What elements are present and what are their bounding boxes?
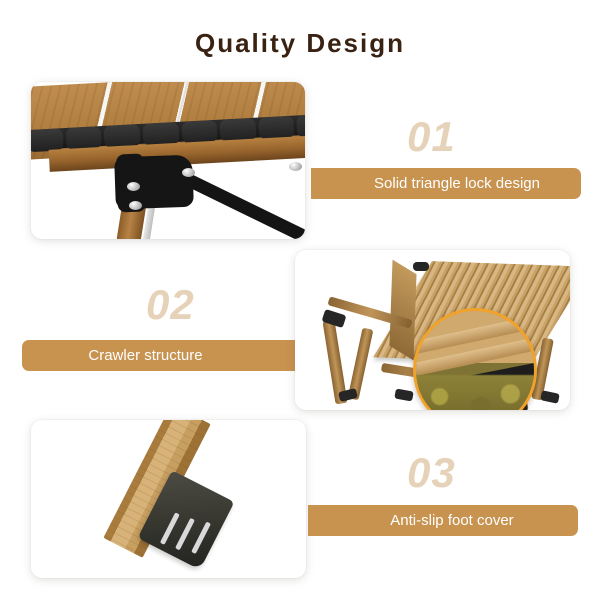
feature-label-bar-02: Crawler structure (22, 340, 295, 371)
feature-label-text-03: Anti-slip foot cover (308, 512, 578, 529)
feature-image-card-03 (31, 420, 306, 578)
foot-cover-mid (394, 389, 413, 402)
rivet-icon (182, 168, 195, 177)
rivet-icon (129, 201, 142, 210)
feature-image-card-02 (295, 250, 570, 410)
crawler-structure-illustration (295, 250, 570, 410)
inset-ground-texture (416, 375, 534, 410)
foot-groove (160, 512, 180, 545)
foot-groove (175, 518, 195, 551)
feature-label-text-02: Crawler structure (22, 347, 295, 364)
infographic-page: Quality Design 01 Solid triangle lock de… (0, 0, 600, 600)
rivet-icon (127, 182, 140, 191)
table-side-edge (389, 260, 416, 361)
foot-groove (191, 521, 211, 554)
feature-number-01: 01 (407, 116, 456, 158)
page-title: Quality Design (0, 28, 600, 59)
feature-number-02: 02 (146, 284, 195, 326)
rivet-icon (289, 162, 302, 171)
anti-slip-foot-illustration (31, 420, 306, 578)
feature-label-text-01: Solid triangle lock design (311, 175, 581, 192)
feature-image-card-01 (31, 82, 305, 239)
triangle-lock-illustration (31, 82, 305, 239)
feature-label-bar-03: Anti-slip foot cover (308, 505, 578, 536)
foot-cover-rear (540, 390, 560, 404)
table-latch (413, 262, 429, 271)
feature-label-bar-01: Solid triangle lock design (311, 168, 581, 199)
feature-number-03: 03 (407, 452, 456, 494)
